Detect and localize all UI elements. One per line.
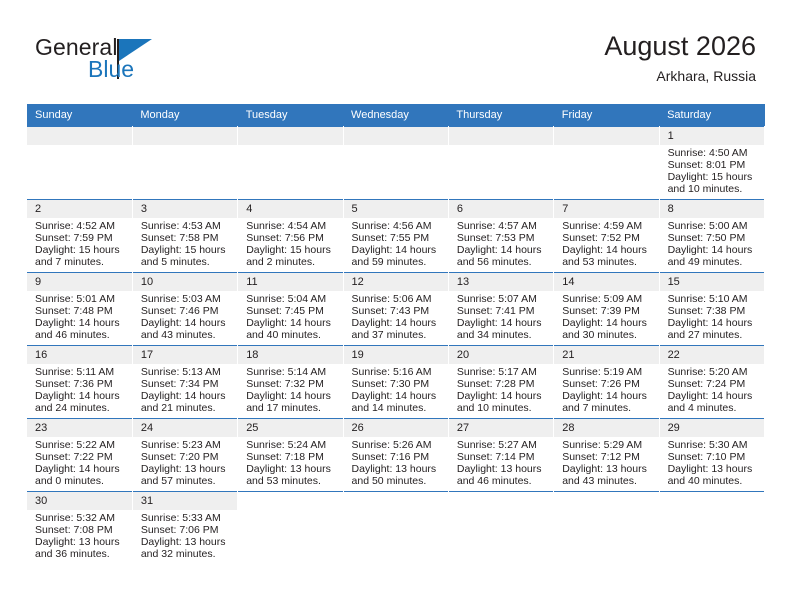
daylight-text-line2: and 2 minutes. <box>246 257 338 269</box>
daylight-text-line2: and 17 minutes. <box>246 403 338 415</box>
daylight-text-line2: and 40 minutes. <box>668 476 760 488</box>
calendar-day-cell[interactable]: 2Sunrise: 4:52 AMSunset: 7:59 PMDaylight… <box>27 200 132 273</box>
daylight-text-line2: and 50 minutes. <box>352 476 444 488</box>
day-number: 2 <box>27 200 132 218</box>
daylight-text-line1: Daylight: 14 hours <box>457 391 549 403</box>
weekday-header-tuesday: Tuesday <box>238 104 343 127</box>
calendar-day-cell[interactable]: 5Sunrise: 4:56 AMSunset: 7:55 PMDaylight… <box>343 200 448 273</box>
day-number: 23 <box>27 419 132 437</box>
day-number: 18 <box>238 346 342 364</box>
day-details: Sunrise: 5:19 AMSunset: 7:26 PMDaylight:… <box>554 364 658 415</box>
calendar-day-cell[interactable]: 14Sunrise: 5:09 AMSunset: 7:39 PMDayligh… <box>554 273 659 346</box>
calendar-day-cell-empty <box>132 127 237 200</box>
daylight-text-line1: Daylight: 14 hours <box>352 391 444 403</box>
calendar-week-row: 1Sunrise: 4:50 AMSunset: 8:01 PMDaylight… <box>27 127 765 200</box>
daylight-text-line2: and 34 minutes. <box>457 330 549 342</box>
day-details: Sunrise: 4:52 AMSunset: 7:59 PMDaylight:… <box>27 218 132 269</box>
daylight-text-line1: Daylight: 14 hours <box>246 391 338 403</box>
daylight-text-line2: and 49 minutes. <box>668 257 760 269</box>
weekday-header-thursday: Thursday <box>448 104 553 127</box>
daylight-text-line2: and 53 minutes. <box>562 257 654 269</box>
daylight-text-line2: and 46 minutes. <box>35 330 128 342</box>
day-number: 1 <box>660 127 764 145</box>
daylight-text-line1: Daylight: 13 hours <box>457 464 549 476</box>
daylight-text-line1: Daylight: 15 hours <box>35 245 128 257</box>
day-number <box>660 492 764 510</box>
day-number: 8 <box>660 200 764 218</box>
calendar-day-cell-empty <box>343 127 448 200</box>
daylight-text-line2: and 30 minutes. <box>562 330 654 342</box>
daylight-text-line2: and 4 minutes. <box>668 403 760 415</box>
calendar-day-cell[interactable]: 9Sunrise: 5:01 AMSunset: 7:48 PMDaylight… <box>27 273 132 346</box>
daylight-text-line2: and 10 minutes. <box>668 184 760 196</box>
calendar-day-cell[interactable]: 24Sunrise: 5:23 AMSunset: 7:20 PMDayligh… <box>132 419 237 492</box>
day-number: 26 <box>344 419 448 437</box>
calendar-day-cell-empty <box>554 492 659 565</box>
calendar-week-row: 23Sunrise: 5:22 AMSunset: 7:22 PMDayligh… <box>27 419 765 492</box>
day-number: 31 <box>133 492 237 510</box>
general-blue-logo[interactable]: General Blue <box>35 34 215 90</box>
day-number <box>344 127 448 145</box>
daylight-text-line1: Daylight: 14 hours <box>668 391 760 403</box>
daylight-text-line1: Daylight: 13 hours <box>562 464 654 476</box>
daylight-text-line2: and 43 minutes. <box>562 476 654 488</box>
daylight-text-line1: Daylight: 13 hours <box>246 464 338 476</box>
daylight-text-line1: Daylight: 15 hours <box>668 172 760 184</box>
day-number: 16 <box>27 346 132 364</box>
calendar-body: 1Sunrise: 4:50 AMSunset: 8:01 PMDaylight… <box>27 127 765 565</box>
daylight-text-line1: Daylight: 14 hours <box>246 318 338 330</box>
daylight-text-line1: Daylight: 14 hours <box>35 391 128 403</box>
daylight-text-line1: Daylight: 13 hours <box>141 537 233 549</box>
day-details: Sunrise: 5:01 AMSunset: 7:48 PMDaylight:… <box>27 291 132 342</box>
day-number <box>344 492 448 510</box>
daylight-text-line1: Daylight: 14 hours <box>141 318 233 330</box>
day-details: Sunrise: 5:20 AMSunset: 7:24 PMDaylight:… <box>660 364 764 415</box>
calendar-day-cell[interactable]: 10Sunrise: 5:03 AMSunset: 7:46 PMDayligh… <box>132 273 237 346</box>
day-details: Sunrise: 5:11 AMSunset: 7:36 PMDaylight:… <box>27 364 132 415</box>
calendar-day-cell-empty <box>238 127 343 200</box>
daylight-text-line1: Daylight: 14 hours <box>457 245 549 257</box>
daylight-text-line1: Daylight: 14 hours <box>141 391 233 403</box>
day-number <box>238 127 342 145</box>
calendar-day-cell[interactable]: 15Sunrise: 5:10 AMSunset: 7:38 PMDayligh… <box>659 273 764 346</box>
day-details: Sunrise: 4:57 AMSunset: 7:53 PMDaylight:… <box>449 218 553 269</box>
daylight-text-line2: and 24 minutes. <box>35 403 128 415</box>
daylight-text-line1: Daylight: 14 hours <box>352 318 444 330</box>
day-number: 13 <box>449 273 553 291</box>
day-details: Sunrise: 5:00 AMSunset: 7:50 PMDaylight:… <box>660 218 764 269</box>
calendar-day-cell-empty <box>343 492 448 565</box>
daylight-text-line1: Daylight: 14 hours <box>35 318 128 330</box>
calendar-header-row: Sunday Monday Tuesday Wednesday Thursday… <box>27 104 765 127</box>
day-number: 30 <box>27 492 132 510</box>
day-details: Sunrise: 5:10 AMSunset: 7:38 PMDaylight:… <box>660 291 764 342</box>
daylight-text-line2: and 5 minutes. <box>141 257 233 269</box>
day-details: Sunrise: 5:14 AMSunset: 7:32 PMDaylight:… <box>238 364 342 415</box>
calendar-day-cell[interactable]: 28Sunrise: 5:29 AMSunset: 7:12 PMDayligh… <box>554 419 659 492</box>
day-number: 7 <box>554 200 658 218</box>
calendar-day-cell[interactable]: 19Sunrise: 5:16 AMSunset: 7:30 PMDayligh… <box>343 346 448 419</box>
calendar-day-cell[interactable]: 16Sunrise: 5:11 AMSunset: 7:36 PMDayligh… <box>27 346 132 419</box>
day-number: 22 <box>660 346 764 364</box>
daylight-text-line1: Daylight: 14 hours <box>352 245 444 257</box>
day-details: Sunrise: 5:09 AMSunset: 7:39 PMDaylight:… <box>554 291 658 342</box>
daylight-text-line2: and 10 minutes. <box>457 403 549 415</box>
calendar-day-cell-empty <box>448 127 553 200</box>
daylight-text-line2: and 56 minutes. <box>457 257 549 269</box>
day-number: 5 <box>344 200 448 218</box>
calendar-day-cell[interactable]: 3Sunrise: 4:53 AMSunset: 7:58 PMDaylight… <box>132 200 237 273</box>
day-details: Sunrise: 4:54 AMSunset: 7:56 PMDaylight:… <box>238 218 342 269</box>
weekday-header-saturday: Saturday <box>659 104 764 127</box>
day-number <box>554 492 658 510</box>
calendar-day-cell[interactable]: 1Sunrise: 4:50 AMSunset: 8:01 PMDaylight… <box>659 127 764 200</box>
day-number: 27 <box>449 419 553 437</box>
day-details: Sunrise: 5:33 AMSunset: 7:06 PMDaylight:… <box>133 510 237 561</box>
title-block: August 2026 Arkhara, Russia <box>604 30 756 86</box>
day-details: Sunrise: 5:27 AMSunset: 7:14 PMDaylight:… <box>449 437 553 488</box>
day-number: 14 <box>554 273 658 291</box>
day-details: Sunrise: 5:07 AMSunset: 7:41 PMDaylight:… <box>449 291 553 342</box>
calendar-day-cell-empty <box>659 492 764 565</box>
daylight-text-line2: and 21 minutes. <box>141 403 233 415</box>
day-number <box>449 492 553 510</box>
daylight-text-line2: and 59 minutes. <box>352 257 444 269</box>
daylight-text-line2: and 7 minutes. <box>35 257 128 269</box>
day-number: 15 <box>660 273 764 291</box>
calendar-page: General Blue August 2026 Arkhara, Russia… <box>0 0 792 612</box>
day-details: Sunrise: 5:29 AMSunset: 7:12 PMDaylight:… <box>554 437 658 488</box>
day-details: Sunrise: 5:06 AMSunset: 7:43 PMDaylight:… <box>344 291 448 342</box>
location-subtitle: Arkhara, Russia <box>604 66 756 86</box>
day-details: Sunrise: 5:26 AMSunset: 7:16 PMDaylight:… <box>344 437 448 488</box>
calendar-day-cell-empty <box>238 492 343 565</box>
day-details: Sunrise: 5:24 AMSunset: 7:18 PMDaylight:… <box>238 437 342 488</box>
calendar-grid: Sunday Monday Tuesday Wednesday Thursday… <box>27 104 765 564</box>
daylight-text-line1: Daylight: 14 hours <box>562 318 654 330</box>
calendar-day-cell[interactable]: 26Sunrise: 5:26 AMSunset: 7:16 PMDayligh… <box>343 419 448 492</box>
daylight-text-line2: and 32 minutes. <box>141 549 233 561</box>
day-number: 25 <box>238 419 342 437</box>
weekday-header-sunday: Sunday <box>27 104 132 127</box>
weekday-header-monday: Monday <box>132 104 237 127</box>
calendar-week-row: 16Sunrise: 5:11 AMSunset: 7:36 PMDayligh… <box>27 346 765 419</box>
day-number <box>449 127 553 145</box>
calendar-day-cell-empty <box>554 127 659 200</box>
daylight-text-line2: and 7 minutes. <box>562 403 654 415</box>
calendar-day-cell[interactable]: 7Sunrise: 4:59 AMSunset: 7:52 PMDaylight… <box>554 200 659 273</box>
page-header: General Blue August 2026 Arkhara, Russia <box>0 0 792 104</box>
daylight-text-line2: and 53 minutes. <box>246 476 338 488</box>
day-details: Sunrise: 5:13 AMSunset: 7:34 PMDaylight:… <box>133 364 237 415</box>
calendar-day-cell-empty <box>27 127 132 200</box>
day-details: Sunrise: 5:04 AMSunset: 7:45 PMDaylight:… <box>238 291 342 342</box>
daylight-text-line2: and 0 minutes. <box>35 476 128 488</box>
day-details: Sunrise: 5:17 AMSunset: 7:28 PMDaylight:… <box>449 364 553 415</box>
calendar-day-cell[interactable]: 6Sunrise: 4:57 AMSunset: 7:53 PMDaylight… <box>448 200 553 273</box>
calendar-day-cell[interactable]: 18Sunrise: 5:14 AMSunset: 7:32 PMDayligh… <box>238 346 343 419</box>
day-number: 21 <box>554 346 658 364</box>
calendar-day-cell-empty <box>448 492 553 565</box>
daylight-text-line1: Daylight: 13 hours <box>352 464 444 476</box>
daylight-text-line2: and 43 minutes. <box>141 330 233 342</box>
weekday-header-wednesday: Wednesday <box>343 104 448 127</box>
day-details: Sunrise: 4:53 AMSunset: 7:58 PMDaylight:… <box>133 218 237 269</box>
calendar-day-cell[interactable]: 4Sunrise: 4:54 AMSunset: 7:56 PMDaylight… <box>238 200 343 273</box>
weekday-header-friday: Friday <box>554 104 659 127</box>
day-number: 10 <box>133 273 237 291</box>
day-number <box>133 127 237 145</box>
daylight-text-line1: Daylight: 14 hours <box>457 318 549 330</box>
daylight-text-line2: and 27 minutes. <box>668 330 760 342</box>
day-number: 24 <box>133 419 237 437</box>
daylight-text-line1: Daylight: 13 hours <box>668 464 760 476</box>
logo-text-blue: Blue <box>88 56 134 83</box>
calendar-day-cell[interactable]: 17Sunrise: 5:13 AMSunset: 7:34 PMDayligh… <box>132 346 237 419</box>
daylight-text-line2: and 40 minutes. <box>246 330 338 342</box>
daylight-text-line1: Daylight: 14 hours <box>668 245 760 257</box>
day-number: 9 <box>27 273 132 291</box>
calendar-day-cell[interactable]: 30Sunrise: 5:32 AMSunset: 7:08 PMDayligh… <box>27 492 132 565</box>
day-number: 4 <box>238 200 342 218</box>
daylight-text-line2: and 37 minutes. <box>352 330 444 342</box>
day-details: Sunrise: 5:03 AMSunset: 7:46 PMDaylight:… <box>133 291 237 342</box>
daylight-text-line1: Daylight: 13 hours <box>35 537 128 549</box>
calendar-week-row: 9Sunrise: 5:01 AMSunset: 7:48 PMDaylight… <box>27 273 765 346</box>
calendar-day-cell[interactable]: 31Sunrise: 5:33 AMSunset: 7:06 PMDayligh… <box>132 492 237 565</box>
day-number: 17 <box>133 346 237 364</box>
daylight-text-line2: and 36 minutes. <box>35 549 128 561</box>
daylight-text-line1: Daylight: 15 hours <box>246 245 338 257</box>
daylight-text-line1: Daylight: 14 hours <box>562 391 654 403</box>
day-number: 20 <box>449 346 553 364</box>
day-details: Sunrise: 4:50 AMSunset: 8:01 PMDaylight:… <box>660 145 764 196</box>
calendar-day-cell[interactable]: 8Sunrise: 5:00 AMSunset: 7:50 PMDaylight… <box>659 200 764 273</box>
calendar-day-cell[interactable]: 21Sunrise: 5:19 AMSunset: 7:26 PMDayligh… <box>554 346 659 419</box>
daylight-text-line2: and 46 minutes. <box>457 476 549 488</box>
day-number: 6 <box>449 200 553 218</box>
calendar-day-cell[interactable]: 25Sunrise: 5:24 AMSunset: 7:18 PMDayligh… <box>238 419 343 492</box>
day-details: Sunrise: 5:22 AMSunset: 7:22 PMDaylight:… <box>27 437 132 488</box>
calendar-week-row: 30Sunrise: 5:32 AMSunset: 7:08 PMDayligh… <box>27 492 765 565</box>
calendar-day-cell[interactable]: 13Sunrise: 5:07 AMSunset: 7:41 PMDayligh… <box>448 273 553 346</box>
day-details: Sunrise: 5:32 AMSunset: 7:08 PMDaylight:… <box>27 510 132 561</box>
calendar-week-row: 2Sunrise: 4:52 AMSunset: 7:59 PMDaylight… <box>27 200 765 273</box>
day-number: 19 <box>344 346 448 364</box>
calendar-day-cell[interactable]: 11Sunrise: 5:04 AMSunset: 7:45 PMDayligh… <box>238 273 343 346</box>
day-number: 3 <box>133 200 237 218</box>
day-number <box>554 127 658 145</box>
page-title: August 2026 <box>604 30 756 62</box>
day-number: 29 <box>660 419 764 437</box>
day-details: Sunrise: 5:30 AMSunset: 7:10 PMDaylight:… <box>660 437 764 488</box>
day-number: 12 <box>344 273 448 291</box>
day-details: Sunrise: 5:23 AMSunset: 7:20 PMDaylight:… <box>133 437 237 488</box>
day-details: Sunrise: 4:59 AMSunset: 7:52 PMDaylight:… <box>554 218 658 269</box>
calendar-day-cell[interactable]: 27Sunrise: 5:27 AMSunset: 7:14 PMDayligh… <box>448 419 553 492</box>
day-number <box>238 492 342 510</box>
daylight-text-line1: Daylight: 14 hours <box>668 318 760 330</box>
day-number <box>27 127 132 145</box>
daylight-text-line1: Daylight: 14 hours <box>562 245 654 257</box>
calendar-day-cell[interactable]: 23Sunrise: 5:22 AMSunset: 7:22 PMDayligh… <box>27 419 132 492</box>
calendar-day-cell[interactable]: 22Sunrise: 5:20 AMSunset: 7:24 PMDayligh… <box>659 346 764 419</box>
day-number: 11 <box>238 273 342 291</box>
day-details: Sunrise: 5:16 AMSunset: 7:30 PMDaylight:… <box>344 364 448 415</box>
day-details: Sunrise: 4:56 AMSunset: 7:55 PMDaylight:… <box>344 218 448 269</box>
calendar-day-cell[interactable]: 20Sunrise: 5:17 AMSunset: 7:28 PMDayligh… <box>448 346 553 419</box>
daylight-text-line2: and 14 minutes. <box>352 403 444 415</box>
daylight-text-line1: Daylight: 13 hours <box>141 464 233 476</box>
daylight-text-line1: Daylight: 15 hours <box>141 245 233 257</box>
daylight-text-line1: Daylight: 14 hours <box>35 464 128 476</box>
calendar-day-cell[interactable]: 12Sunrise: 5:06 AMSunset: 7:43 PMDayligh… <box>343 273 448 346</box>
day-number: 28 <box>554 419 658 437</box>
daylight-text-line2: and 57 minutes. <box>141 476 233 488</box>
calendar-day-cell[interactable]: 29Sunrise: 5:30 AMSunset: 7:10 PMDayligh… <box>659 419 764 492</box>
